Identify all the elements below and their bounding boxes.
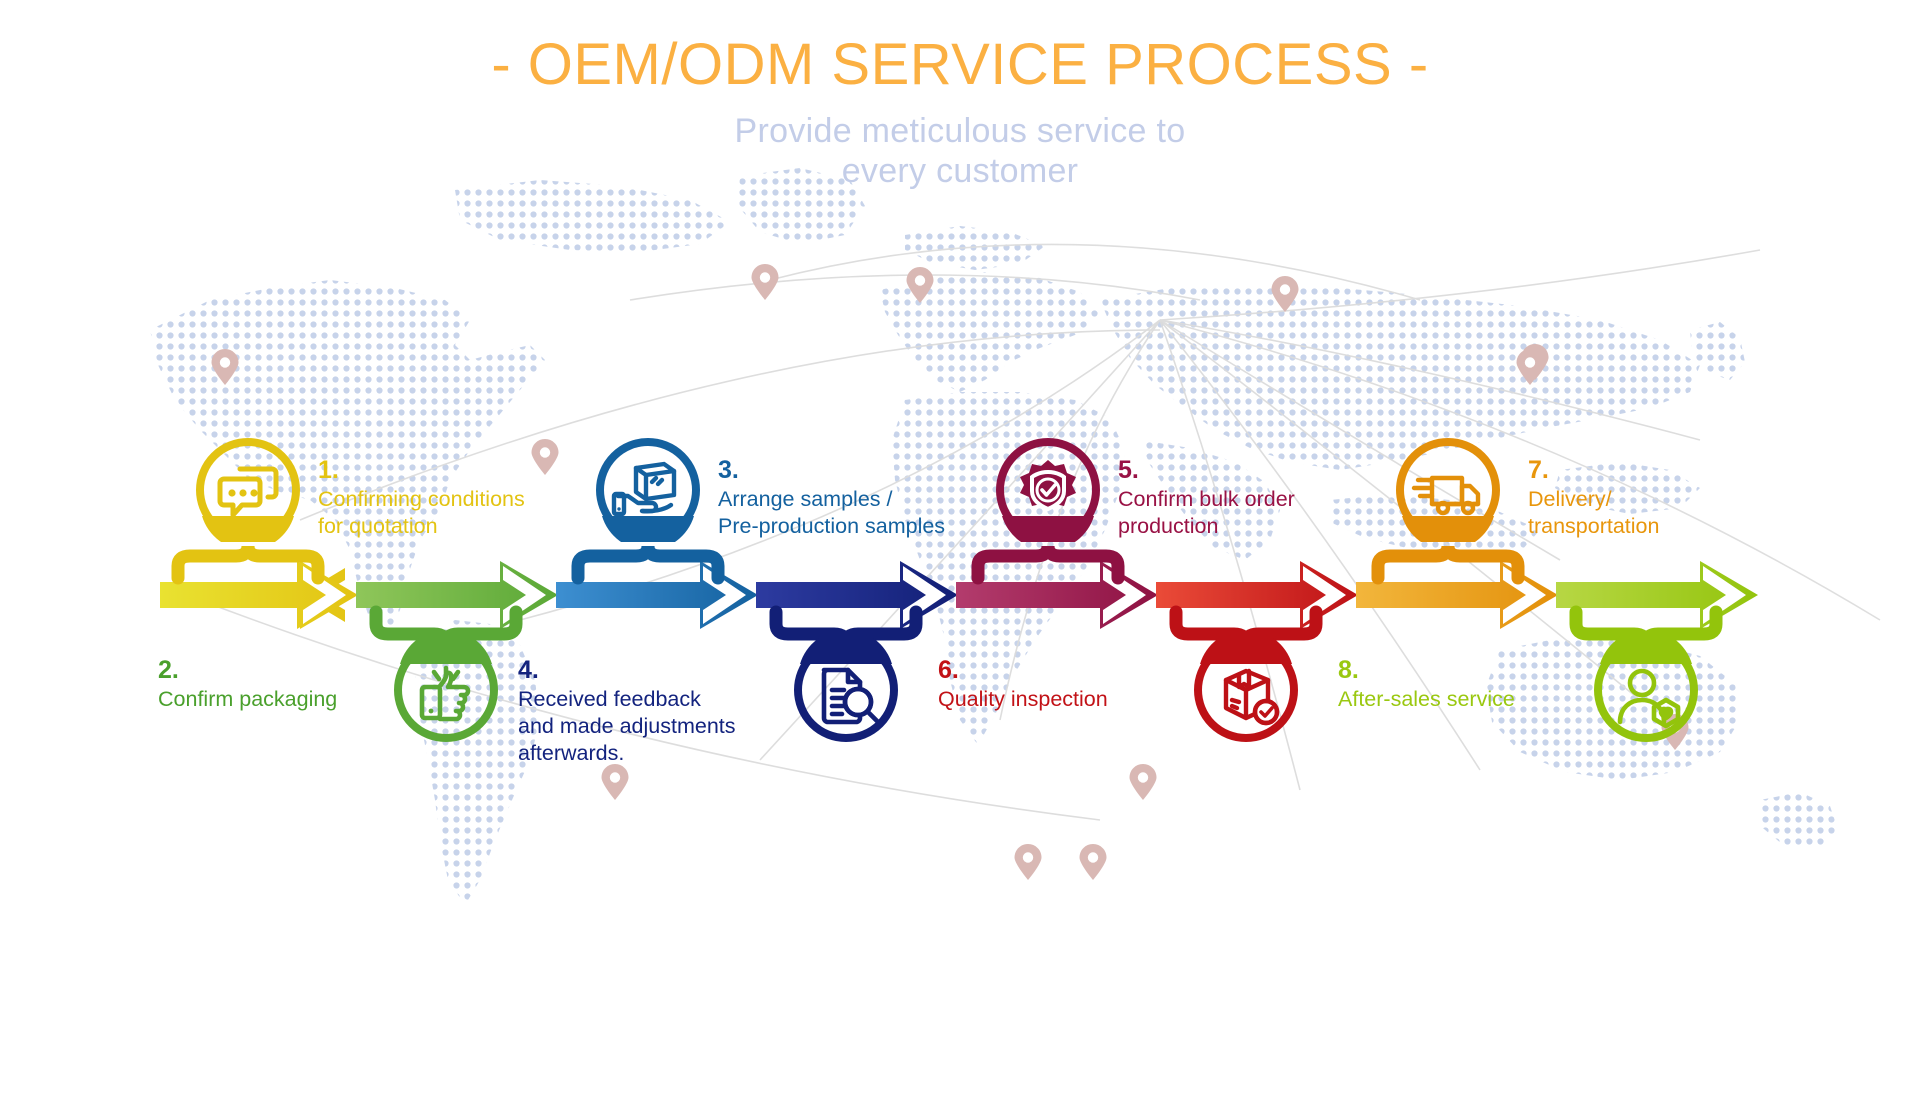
- step-label-7: 7. Delivery/ transportation: [1528, 458, 1788, 540]
- step-label-5: 5. Confirm bulk order production: [1118, 458, 1398, 540]
- step-number-6: 6.: [938, 658, 1218, 683]
- step-node-8[interactable]: [1594, 638, 1698, 742]
- step-text-7: Delivery/ transportation: [1528, 486, 1788, 540]
- step-text-5: Confirm bulk order production: [1118, 486, 1398, 540]
- step-number-7: 7.: [1528, 458, 1788, 483]
- step-text-1: Confirming conditions for quotation: [318, 486, 588, 540]
- step-label-8: 8. After-sales service: [1338, 658, 1608, 713]
- chat-bubbles-icon: [196, 438, 300, 542]
- step-number-2: 2.: [158, 658, 418, 683]
- step-text-6: Quality inspection: [938, 686, 1218, 713]
- subtitle-line-1: Provide meticulous service to: [0, 111, 1920, 151]
- subtitle-line-2: every customer: [0, 151, 1920, 191]
- step-number-1: 1.: [318, 458, 588, 483]
- step-label-1: 1. Confirming conditions for quotation: [318, 458, 588, 540]
- step-text-4: Received feedback and made adjustments a…: [518, 686, 818, 767]
- brace-up-7: [1378, 546, 1518, 578]
- step-node-1[interactable]: [196, 438, 300, 542]
- step-label-6: 6. Quality inspection: [938, 658, 1218, 713]
- step-number-4: 4.: [518, 658, 818, 683]
- step-text-2: Confirm packaging: [158, 686, 418, 713]
- hand-holding-box-icon: [596, 438, 700, 542]
- step-number-3: 3.: [718, 458, 1018, 483]
- step-text-8: After-sales service: [1338, 686, 1608, 713]
- step-node-3[interactable]: [596, 438, 700, 542]
- page-subtitle: Provide meticulous service to every cust…: [0, 111, 1920, 191]
- customer-care-icon: [1594, 638, 1698, 742]
- step-number-5: 5.: [1118, 458, 1398, 483]
- delivery-truck-icon: [1396, 438, 1500, 542]
- step-label-2: 2. Confirm packaging: [158, 658, 418, 713]
- step-number-8: 8.: [1338, 658, 1608, 683]
- step-label-3: 3. Arrange samples / Pre-production samp…: [718, 458, 1018, 540]
- page-title: - OEM/ODM SERVICE PROCESS -: [0, 34, 1920, 97]
- brace-up-5: [978, 546, 1118, 578]
- step-label-4: 4. Received feedback and made adjustment…: [518, 658, 818, 767]
- header: - OEM/ODM SERVICE PROCESS - Provide meti…: [0, 34, 1920, 191]
- step-node-7[interactable]: [1396, 438, 1500, 542]
- step-text-3: Arrange samples / Pre-production samples: [718, 486, 1018, 540]
- brace-up-3: [578, 546, 718, 578]
